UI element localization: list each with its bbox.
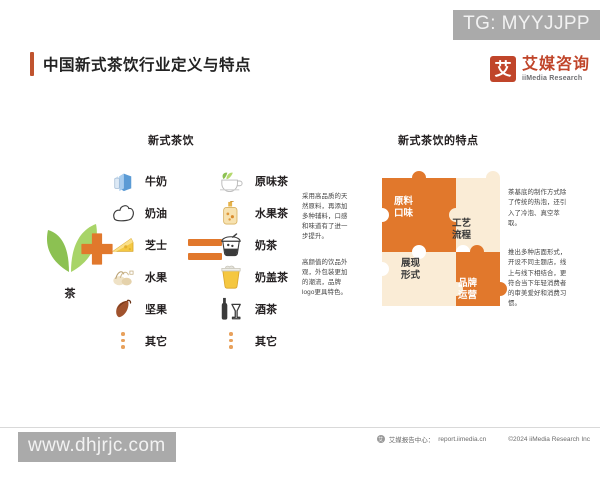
logo-name-cn: 艾媒咨询 (522, 57, 590, 73)
list-item-label: 奶茶 (255, 237, 277, 253)
title-accent-bar (30, 52, 34, 76)
bubble-tea-cup-icon (216, 232, 246, 258)
slide-root: TG: MYYJJPP www.dhjrjc.com 中国新式茶饮行业定义与特点… (0, 0, 600, 480)
tea-base-label: 茶 (22, 285, 118, 301)
list-item-label: 奶油 (145, 205, 167, 221)
list-item-label: 水果 (145, 269, 167, 285)
bottle-glass-icon (216, 296, 246, 322)
list-item-label: 水果茶 (255, 205, 288, 221)
list-item: 牛奶 (108, 166, 167, 195)
acorn-nut-icon (108, 296, 138, 322)
ingredients-list: 牛奶 奶油 芝士 (108, 166, 167, 355)
footer-source-url[interactable]: report.iimedia.cn (438, 436, 486, 443)
watermark-bottom: www.dhjrjc.com (18, 432, 176, 462)
watermark-top: TG: MYYJJPP (453, 10, 600, 40)
products-list: 原味茶 水果茶 (216, 166, 288, 355)
list-item: 其它 (216, 326, 288, 355)
list-item: 奶盖茶 (216, 262, 288, 291)
list-item: 芝士 (108, 230, 167, 259)
logo-mark-icon: 艾 (490, 56, 516, 82)
left-section-caption: 新式茶饮 (148, 132, 194, 148)
list-item-label: 其它 (255, 333, 277, 349)
list-item-label: 坚果 (145, 301, 167, 317)
list-item: 水果 (108, 262, 167, 291)
list-item: 奶油 (108, 198, 167, 227)
list-item-label: 酒茶 (255, 301, 277, 317)
list-item: 原味茶 (216, 166, 288, 195)
logo-text: 艾媒咨询 iiMedia Research (522, 57, 590, 82)
brand-logo: 艾 艾媒咨询 iiMedia Research (490, 56, 590, 82)
right-note-1: 茶基底的制作方式除了传统的热泡，还引入了冷泡、真空萃取。 (508, 188, 570, 229)
more-dots-icon (108, 328, 138, 354)
right-section-caption: 新式茶饮的特点 (398, 132, 479, 148)
puzzle-piece-presentation (382, 252, 463, 306)
more-dots-icon (216, 328, 246, 354)
left-note-2: 高颜值的饮品外观，外包装更加的潮流，品牌logo更具特色。 (302, 258, 350, 298)
cheese-wedge-icon (108, 232, 138, 258)
list-item: 水果茶 (216, 198, 288, 227)
footer: 艾 艾媒报告中心： report.iimedia.cn ©2024 iiMedi… (377, 434, 590, 444)
list-item: 酒茶 (216, 294, 288, 323)
logo-name-en: iiMedia Research (522, 75, 590, 82)
footer-divider (0, 427, 600, 428)
teacup-icon (216, 168, 246, 194)
list-item-label: 其它 (145, 333, 167, 349)
list-item-label: 牛奶 (145, 173, 167, 189)
cream-swirl-icon (108, 200, 138, 226)
list-item-label: 芝士 (145, 237, 167, 253)
left-note-1: 采用高品质的天然原料，再添加多种辅料，口感和味道有了进一步提升。 (302, 192, 350, 243)
footer-source-label: 艾媒报告中心： (389, 434, 435, 444)
cheese-foam-tea-icon (216, 264, 246, 290)
list-item: 奶茶 (216, 230, 288, 259)
list-item-label: 奶盖茶 (255, 269, 288, 285)
footer-copyright: ©2024 iiMedia Research Inc (508, 436, 590, 443)
right-note-2: 推出多种店面形式，开设不同主题店，线上与线下相结合，更符合当下年轻消费者的审美爱… (508, 248, 570, 310)
list-item: 坚果 (108, 294, 167, 323)
puzzle-piece-process (449, 171, 500, 252)
footer-logo-icon: 艾 (377, 435, 385, 443)
page-title: 中国新式茶饮行业定义与特点 (30, 52, 251, 76)
fruit-icon (108, 264, 138, 290)
puzzle-piece-brand-ops (456, 245, 507, 306)
title-text: 中国新式茶饮行业定义与特点 (43, 53, 251, 75)
puzzle-diagram (368, 160, 508, 310)
list-item-label: 原味茶 (255, 173, 288, 189)
milk-carton-icon (108, 168, 138, 194)
list-item: 其它 (108, 326, 167, 355)
fruit-tea-bottle-icon (216, 200, 246, 226)
